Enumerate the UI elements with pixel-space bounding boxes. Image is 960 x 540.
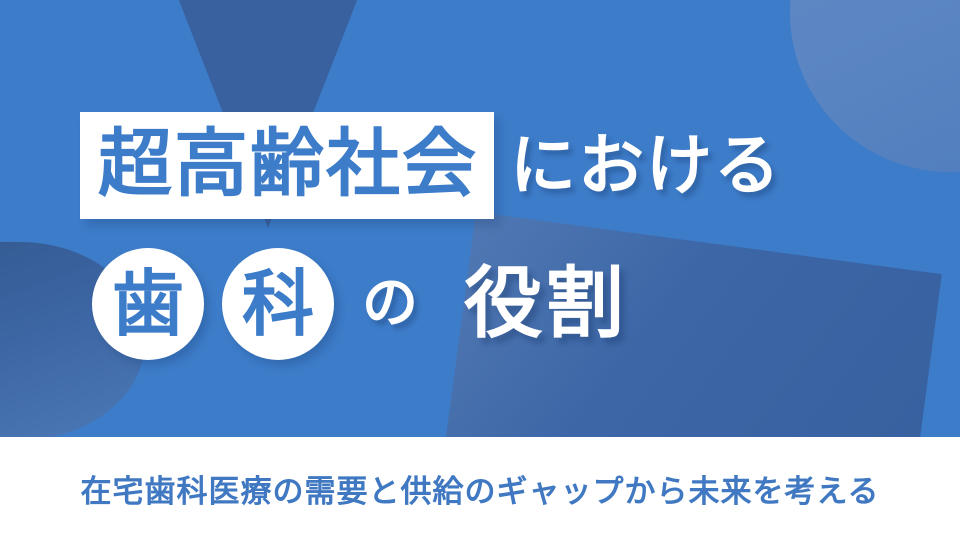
circle-badge-shika-1: 歯	[92, 248, 204, 360]
title-slide: 超高齢社会 における 歯 科 の 役割 在宅歯科医療の需要と供給のギャップから未…	[0, 0, 960, 540]
headline-line-2-tail: 役割	[464, 265, 628, 343]
slide-subtitle: 在宅歯科医療の需要と供給のギャップから未来を考える	[0, 437, 960, 540]
headline-particle-no: の	[362, 276, 418, 332]
headline-highlight-box: 超高齢社会	[80, 112, 494, 219]
headline-line-1: 超高齢社会 における	[80, 112, 782, 219]
circle-badge-shika-2: 科	[222, 248, 334, 360]
slide-content: 超高齢社会 における 歯 科 の 役割 在宅歯科医療の需要と供給のギャップから未…	[0, 0, 960, 540]
headline-line-2: 歯 科 の 役割	[92, 248, 628, 360]
headline-line-1-tail: における	[510, 133, 782, 199]
